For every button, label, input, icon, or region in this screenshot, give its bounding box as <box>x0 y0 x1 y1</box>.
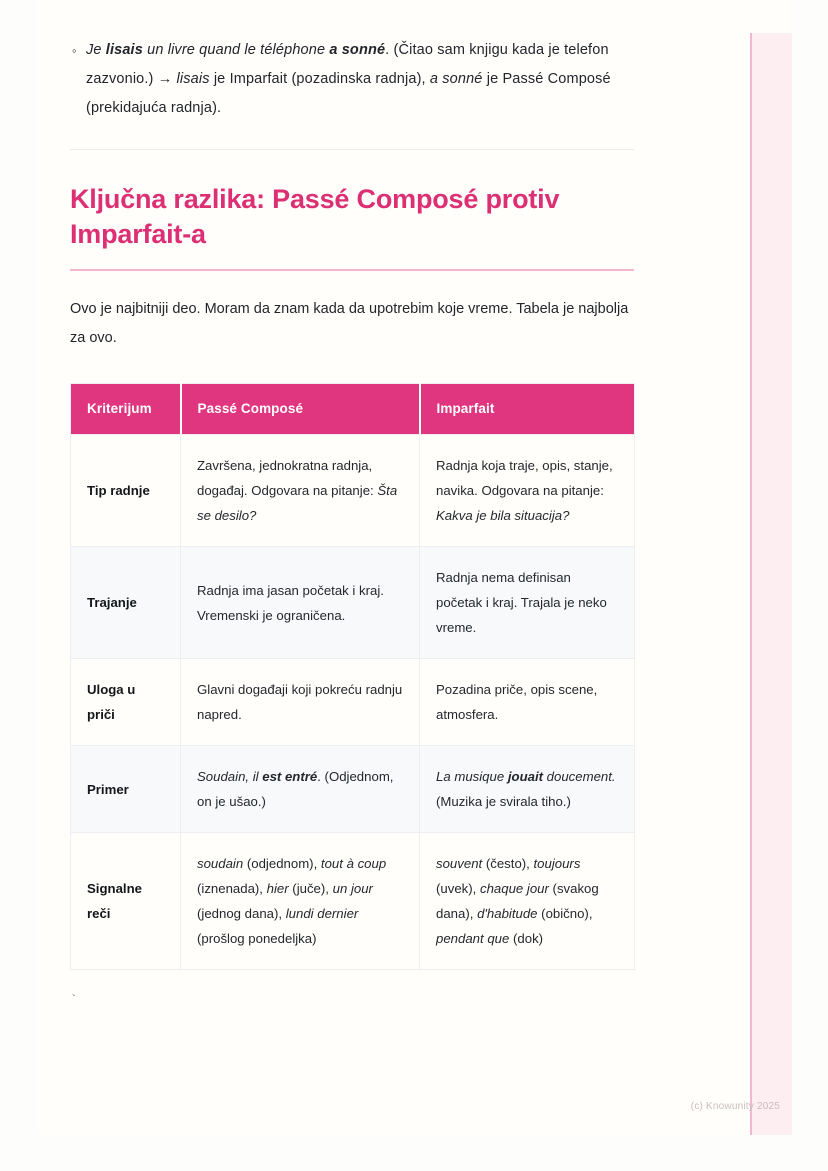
cell-passe-compose: Glavni događaji koji pokreću radnju napr… <box>181 659 420 746</box>
comparison-table: Kriterijum Passé Composé Imparfait Tip r… <box>70 383 635 970</box>
cell-imparfait: souvent (često), toujours (uvek), chaque… <box>420 833 635 970</box>
column-header-kriterijum: Kriterijum <box>71 384 181 435</box>
cell-criterion: Signalne reči <box>71 833 181 970</box>
list-item: ◦ Je lisais un livre quand le téléphone … <box>70 36 634 123</box>
intro-bullet-text: Je lisais un livre quand le téléphone a … <box>86 36 634 123</box>
cell-passe-compose: soudain (odjednom), tout à coup (iznenad… <box>181 833 420 970</box>
table-row: PrimerSoudain, il est entré. (Odjednom, … <box>71 746 635 833</box>
table-row: Signalne rečisoudain (odjednom), tout à … <box>71 833 635 970</box>
cell-criterion: Tip radnje <box>71 435 181 547</box>
footer-watermark: (c) Knowunity 2025 <box>691 1101 780 1112</box>
cell-imparfait: La musique jouait doucement. (Muzika je … <box>420 746 635 833</box>
cell-criterion: Primer <box>71 746 181 833</box>
lead-paragraph: Ovo je najbitniji deo. Moram da znam kad… <box>70 271 634 353</box>
cell-imparfait: Radnja nema definisan početak i kraj. Tr… <box>420 547 635 659</box>
cell-passe-compose: Radnja ima jasan početak i kraj. Vremens… <box>181 547 420 659</box>
cell-criterion: Trajanje <box>71 547 181 659</box>
column-header-imparfait: Imparfait <box>420 384 635 435</box>
page-title: Ključna razlika: Passé Composé protiv Im… <box>70 150 634 252</box>
trailing-backtick: ` <box>70 970 634 1008</box>
bullet-marker-icon: ◦ <box>70 36 86 65</box>
cell-passe-compose: Završena, jednokratna radnja, događaj. O… <box>181 435 420 547</box>
table-header-row: Kriterijum Passé Composé Imparfait <box>71 384 635 435</box>
cell-criterion: Uloga u priči <box>71 659 181 746</box>
cell-imparfait: Pozadina priče, opis scene, atmosfera. <box>420 659 635 746</box>
cell-imparfait: Radnja koja traje, opis, stanje, navika.… <box>420 435 635 547</box>
column-header-passe-compose: Passé Composé <box>181 384 420 435</box>
table-header: Kriterijum Passé Composé Imparfait <box>71 384 635 435</box>
intro-bullet-block: ◦ Je lisais un livre quand le téléphone … <box>70 0 634 123</box>
document-content: ◦ Je lisais un livre quand le téléphone … <box>70 0 634 1008</box>
table-body: Tip radnjeZavršena, jednokratna radnja, … <box>71 435 635 970</box>
table-row: Tip radnjeZavršena, jednokratna radnja, … <box>71 435 635 547</box>
cell-passe-compose: Soudain, il est entré. (Odjednom, on je … <box>181 746 420 833</box>
table-row: TrajanjeRadnja ima jasan početak i kraj.… <box>71 547 635 659</box>
right-edge-pink-band <box>750 33 792 1135</box>
table-row: Uloga u pričiGlavni događaji koji pokreć… <box>71 659 635 746</box>
